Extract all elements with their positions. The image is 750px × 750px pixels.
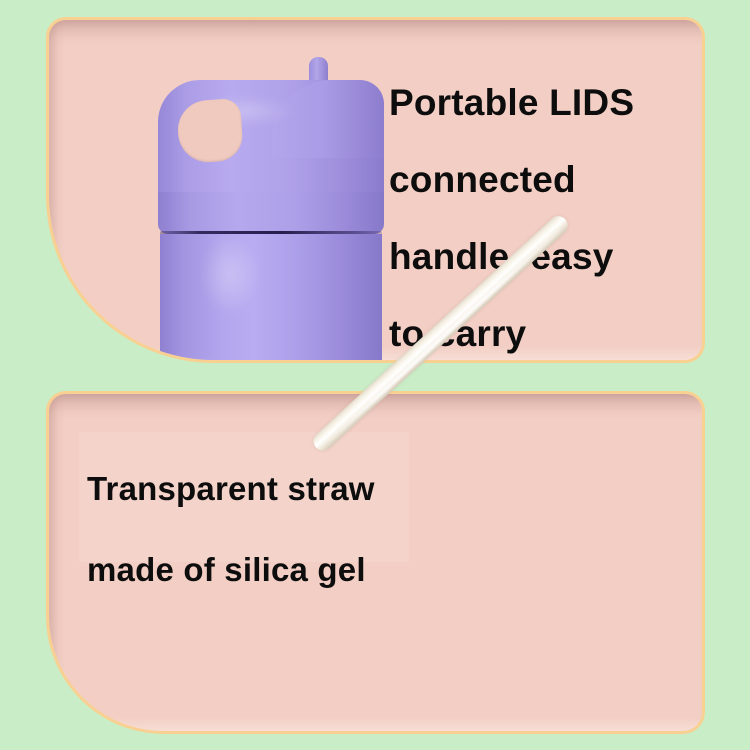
straw-feature-panel: Transparent straw made of silica gel	[46, 391, 705, 734]
bottle-collar-band	[158, 192, 384, 234]
lid-feature-caption: Portable LIDS connected handle, easy to …	[389, 64, 689, 363]
panel-left-inner-shadow	[49, 20, 65, 360]
water-bottle-product-image	[154, 42, 394, 363]
lid-feature-panel: Portable LIDS connected handle, easy to …	[46, 17, 705, 363]
bottle-body-highlight	[204, 238, 256, 310]
straw-feature-caption: Transparent straw made of silica gel	[87, 448, 517, 610]
panel-left-inner-shadow	[49, 394, 65, 731]
panel-top-inner-shadow	[49, 394, 702, 420]
infographic-canvas: Portable LIDS connected handle, easy to …	[0, 0, 750, 750]
bottle-body-cylinder	[160, 234, 382, 363]
panel-bottom-highlight	[49, 717, 702, 731]
